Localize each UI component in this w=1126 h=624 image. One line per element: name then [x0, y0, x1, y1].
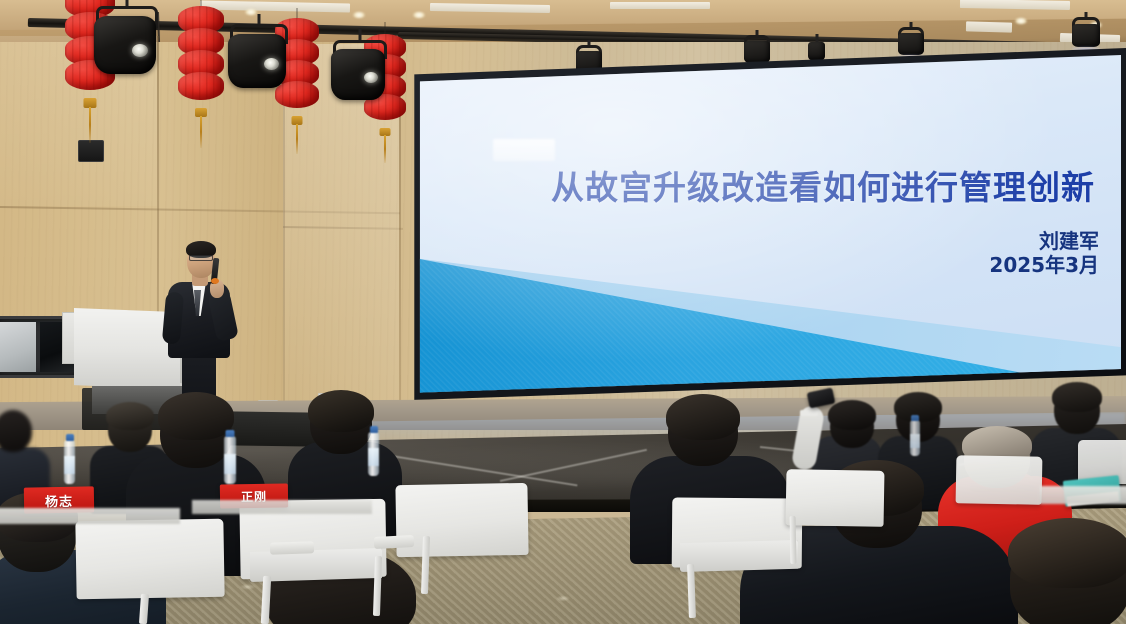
lantern-tassel [200, 116, 202, 148]
slide-placeholder-box [493, 139, 555, 161]
water-bottle [368, 432, 379, 476]
lantern [178, 72, 224, 100]
light-lens [264, 58, 279, 70]
microphone-tip [211, 278, 219, 284]
water-bottle [64, 440, 75, 484]
nameplate-text: 杨志 [45, 490, 73, 509]
slide-author-name: 刘建军 [989, 229, 1099, 253]
bottle-label [910, 434, 920, 448]
auditorium-chair [956, 455, 1043, 504]
audience-desk-right [1040, 486, 1126, 504]
wall-mounted-box [78, 140, 104, 162]
par-can-light-5 [1068, 12, 1104, 52]
light-lens [364, 72, 378, 83]
bottle-cap [66, 434, 74, 441]
slide-author-block: 刘建军 2025年3月 [989, 229, 1099, 278]
audience-desk-mid [192, 500, 372, 514]
attendee-hair [1008, 518, 1126, 588]
bottle-cap [226, 430, 235, 437]
bottle-label [368, 448, 379, 466]
lantern-tassel [89, 107, 91, 143]
par-can-body [744, 41, 770, 63]
auditorium-chair [786, 469, 885, 527]
light-hook [816, 34, 819, 42]
slide-title: 从故宫升级改造看如何进行管理创新 [551, 161, 1095, 209]
attendee-bottom-right [1000, 520, 1126, 624]
lantern-string-2 [175, 12, 227, 100]
bottle-cap [911, 415, 919, 421]
booth-glass-pane-left [0, 322, 36, 372]
lantern-tassel [296, 124, 298, 154]
par-can-body [808, 42, 825, 60]
ceiling-downlight [245, 9, 257, 15]
water-bottle [224, 436, 236, 484]
auditorium-chair [75, 519, 224, 600]
attendee-hair [308, 390, 374, 432]
slide-date: 2025年3月 [989, 253, 1099, 277]
chair-armrest [270, 541, 314, 555]
lantern-tassel [384, 135, 386, 163]
chair-writing-tablet [680, 540, 798, 572]
moving-head-light-2 [222, 22, 296, 102]
bottle-label [64, 456, 75, 474]
audience-desk-left [0, 508, 180, 524]
ceiling-downlight [413, 12, 425, 18]
slide-surface: 从故宫升级改造看如何进行管理创新 刘建军 2025年3月 [415, 53, 1121, 395]
led-presentation-screen: 从故宫升级改造看如何进行管理创新 刘建军 2025年3月 [410, 48, 1126, 400]
ceiling-downlight [1015, 18, 1027, 24]
bottle-label [224, 454, 236, 474]
light-body [94, 16, 156, 74]
attendee-hair [1052, 382, 1102, 412]
par-can-body [898, 33, 924, 55]
presenter [160, 238, 250, 418]
presenter-glasses [189, 255, 213, 261]
attendee-hair [828, 400, 876, 430]
ceiling-downlight [353, 12, 365, 18]
ceiling-panel [966, 21, 1012, 32]
par-can-light-3 [806, 34, 828, 62]
par-can-body [1072, 24, 1100, 47]
par-can-light-4 [894, 22, 928, 60]
conference-hall-photo: 从故宫升级改造看如何进行管理创新 刘建军 2025年3月 [0, 0, 1126, 624]
chair-leg [790, 516, 797, 564]
bottle-cap [370, 426, 378, 433]
chair-armrest [374, 535, 415, 549]
attendee-hair [158, 392, 234, 440]
moving-head-light-1 [88, 4, 166, 88]
light-lens [132, 44, 148, 57]
moving-head-light-3 [325, 38, 395, 114]
ceiling-panel [610, 2, 710, 9]
water-bottle [910, 420, 920, 456]
attendee-head [0, 410, 32, 452]
attendee-hair [666, 394, 740, 440]
auditorium-chair [395, 483, 528, 557]
wristwatch [800, 410, 818, 416]
